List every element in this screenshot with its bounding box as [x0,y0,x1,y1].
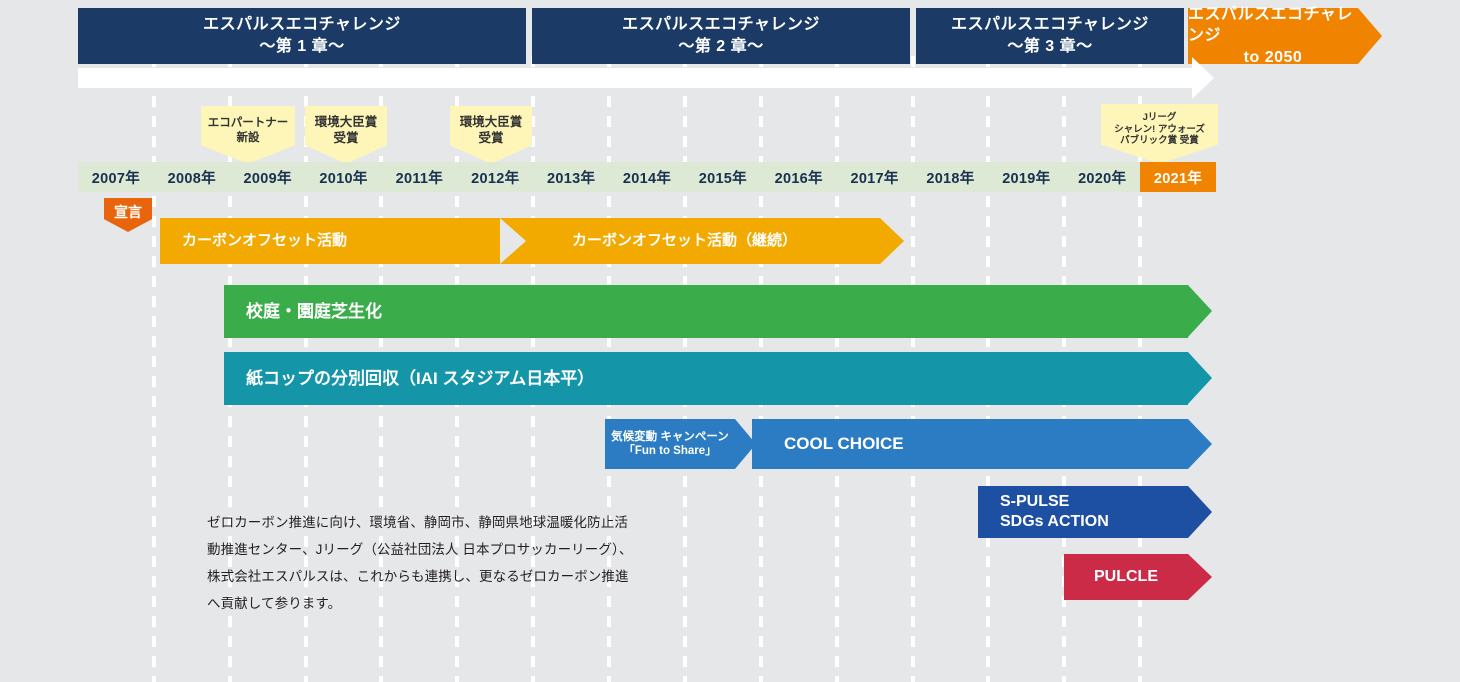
year-cell[interactable]: 2009年 [230,162,306,192]
callout-line: 新設 [208,131,289,145]
year-cell[interactable]: 2017年 [837,162,913,192]
bar-pulcle: PULCLE [1064,554,1188,600]
chapter-subtitle: to 2050 [1244,47,1303,69]
chapter-banner-2: エスパルスエコチャレンジ 〜第 2 章〜 [532,8,910,64]
bar-carbon-offset: カーボンオフセット活動 [160,218,522,264]
leadin-line: 「Fun to Share」 [623,445,716,457]
footnote-line-1: ゼロカーボン推進に向け、環境省、静岡市、静岡県地球温暖化防止活 [207,509,652,536]
bar-paper-cup-recycling: 紙コップの分別回収（IAI スタジアム日本平） [224,352,1188,405]
callout-line: エコパートナー [208,116,289,130]
year-cell[interactable]: 2007年 [78,162,154,192]
chapter-title: エスパルスエコチャレンジ [951,14,1149,36]
year-cell[interactable]: 2015年 [685,162,761,192]
callout-line: 環境大臣賞 [460,115,523,131]
chapter-banner-1: エスパルスエコチャレンジ 〜第 1 章〜 [78,8,526,64]
year-cell[interactable]: 2011年 [381,162,457,192]
chapter-title: エスパルスエコチャレンジ [203,14,401,36]
bar-label-line1: S-PULSE [1000,493,1069,510]
callout-eco-partner: エコパートナー 新設 [201,106,295,162]
timeline-infographic: エスパルスエコチャレンジ 〜第 1 章〜 エスパルスエコチャレンジ 〜第 2 章… [0,0,1460,682]
year-cell[interactable]: 2021年 [1140,162,1216,192]
callout-line: 環境大臣賞 [315,115,378,131]
bar-spulse-sdgs-action: S-PULSE SDGs ACTION [978,486,1188,538]
bar-label: S-PULSE SDGs ACTION [978,492,1109,532]
chapter-title: エスパルスエコチャレンジ [1188,4,1358,47]
callout-env-minister-award-1: 環境大臣賞 受賞 [305,106,387,162]
declaration-badge: 宣言 [104,198,152,232]
year-cell[interactable]: 2020年 [1064,162,1140,192]
footnote-line-4: へ貢献して参ります。 [207,590,652,617]
campaign-fun-to-share: 気候変動 キャンペーン 「Fun to Share」 [605,419,735,469]
year-cell[interactable]: 2013年 [533,162,609,192]
bar-school-lawn: 校庭・園庭芝生化 [224,285,1188,338]
callout-jleague-sharen-awards: Jリーグ シャレン! アウォーズ パブリック賞 受賞 [1101,104,1218,162]
year-cell[interactable]: 2012年 [457,162,533,192]
bar-cool-choice: COOL CHOICE [752,419,1188,469]
callout-line: 受賞 [460,131,523,147]
chapter-subtitle: 〜第 2 章〜 [678,36,763,58]
bar-label: 紙コップの分別回収（IAI スタジアム日本平） [224,368,594,389]
callout-env-minister-award-2: 環境大臣賞 受賞 [450,106,532,162]
year-cell[interactable]: 2010年 [306,162,382,192]
chapter-subtitle: 〜第 1 章〜 [259,36,344,58]
bar-label: カーボンオフセット活動 [160,232,347,251]
year-cell[interactable]: 2016年 [761,162,837,192]
leadin-line: 気候変動 [611,431,657,443]
bar-label: PULCLE [1094,567,1158,587]
chapter-title: エスパルスエコチャレンジ [622,14,820,36]
chapter-banner-3: エスパルスエコチャレンジ 〜第 3 章〜 [916,8,1184,64]
leadin-line: キャンペーン [660,431,728,443]
callout-line: シャレン! アウォーズ [1114,124,1205,136]
year-cell[interactable]: 2008年 [154,162,230,192]
chapter-subtitle: 〜第 3 章〜 [1007,36,1092,58]
grid-line [152,56,156,682]
bar-label: COOL CHOICE [752,433,904,454]
bar-label: カーボンオフセット活動（継続） [500,232,797,251]
callout-line: パブリック賞 受賞 [1114,135,1205,147]
footnote-paragraph: ゼロカーボン推進に向け、環境省、静岡市、静岡県地球温暖化防止活 動推進センター、… [207,509,652,617]
footnote-line-2: 動推進センター、Jリーグ（公益社団法人 日本プロサッカーリーグ）、 [207,536,652,563]
chapter-banner-to-2050: エスパルスエコチャレンジ to 2050 [1188,8,1358,64]
bar-carbon-offset-continued: カーボンオフセット活動（継続） [500,218,880,264]
year-cell[interactable]: 2014年 [609,162,685,192]
declaration-label: 宣言 [114,202,142,222]
year-cell[interactable]: 2019年 [988,162,1064,192]
callout-line: Jリーグ [1114,112,1205,124]
year-cell[interactable]: 2018年 [913,162,989,192]
bar-label-line2: SDGs ACTION [1000,513,1109,530]
bar-label: 校庭・園庭芝生化 [224,301,382,322]
footnote-line-3: 株式会社エスパルスは、これからも連携し、更なるゼロカーボン推進 [207,563,652,590]
timeline-direction-arrow [78,68,1192,88]
callout-line: 受賞 [315,131,378,147]
